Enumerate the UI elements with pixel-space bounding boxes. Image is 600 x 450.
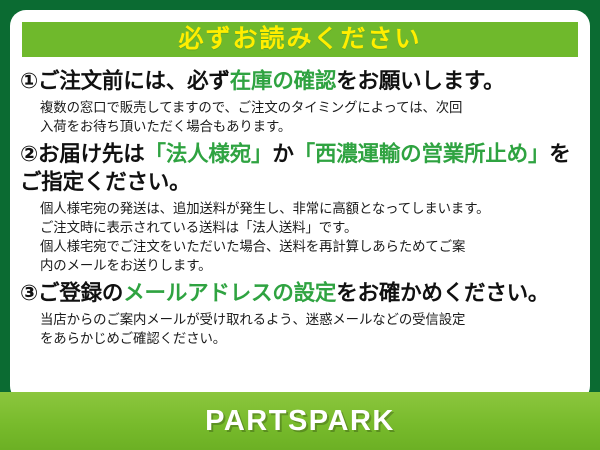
brand-logo-text: PARTSPARK xyxy=(205,407,395,436)
notice-item-2-body-line-4: 内のメールをお送りします。 xyxy=(40,256,582,275)
notice-item-1: ①ご注文前には、必ず在庫の確認をお願いします。 複数の窓口で販売してますので、ご… xyxy=(20,68,582,136)
notice-item-3-body-line-1: 当店からのご案内メールが受け取れるよう、迷惑メールなどの受信設定 xyxy=(40,310,582,329)
notice-item-1-body-line-2: 入荷をお待ち頂いただく場合もあります。 xyxy=(40,117,582,136)
notice-item-1-heading-part2: をお願いします。 xyxy=(336,69,504,93)
notice-item-3-heading-highlight: メールアドレスの設定 xyxy=(123,281,336,305)
notice-item-3-body-line-2: をあらかじめご確認ください。 xyxy=(40,329,582,348)
page-title: 必ずお読みください xyxy=(178,27,421,52)
notice-item-2-heading-mid: か xyxy=(272,142,293,166)
notice-item-list: ①ご注文前には、必ず在庫の確認をお願いします。 複数の窓口で販売してますので、ご… xyxy=(10,68,590,353)
notice-item-3-marker: ③ xyxy=(20,281,38,305)
notice-item-1-heading-highlight: 在庫の確認 xyxy=(230,69,337,93)
content-sheet: 必ずお読みください ①ご注文前には、必ず在庫の確認をお願いします。 複数の窓口で… xyxy=(10,10,590,402)
notice-item-2-body-line-2: ご注文時に表示されている送料は「法人送料」です。 xyxy=(40,218,582,237)
notice-item-3-heading-part1: ご登録の xyxy=(38,281,123,305)
notice-item-3-body: 当店からのご案内メールが受け取れるよう、迷惑メールなどの受信設定 をあらかじめご… xyxy=(20,310,582,348)
footer-bar: PARTSPARK xyxy=(0,392,600,450)
notice-item-2-body: 個人様宅宛の発送は、追加送料が発生し、非常に高額となってしまいます。 ご注文時に… xyxy=(20,199,582,275)
notice-card: 必ずお読みください ①ご注文前には、必ず在庫の確認をお願いします。 複数の窓口で… xyxy=(0,0,600,450)
notice-item-1-marker: ① xyxy=(20,69,38,93)
notice-item-3-heading: ③ご登録のメールアドレスの設定をお確かめください。 xyxy=(20,280,582,308)
notice-item-1-heading: ①ご注文前には、必ず在庫の確認をお願いします。 xyxy=(20,68,582,96)
notice-item-2-heading: ②お届け先は「法人様宛」か「西濃運輸の営業所止め」をご指定ください。 xyxy=(20,141,582,197)
notice-item-2-heading-highlight-2: 「西濃運輸の営業所止め」 xyxy=(294,142,550,166)
notice-item-2: ②お届け先は「法人様宛」か「西濃運輸の営業所止め」をご指定ください。 個人様宅宛… xyxy=(20,141,582,275)
notice-item-1-body: 複数の窓口で販売してますので、ご注文のタイミングによっては、次回 入荷をお待ち頂… xyxy=(20,98,582,136)
notice-item-2-body-line-3: 個人様宅宛でご注文をいただいた場合、送料を再計算しあらためてご案 xyxy=(40,237,582,256)
notice-item-2-heading-part1: お届け先は xyxy=(38,142,145,166)
notice-item-3: ③ご登録のメールアドレスの設定をお確かめください。 当店からのご案内メールが受け… xyxy=(20,280,582,348)
notice-item-3-heading-part2: をお確かめください。 xyxy=(336,281,549,305)
notice-item-2-heading-highlight: 「法人様宛」 xyxy=(145,142,273,166)
notice-item-1-heading-part1: ご注文前には、必ず xyxy=(38,69,230,93)
notice-item-1-body-line-1: 複数の窓口で販売してますので、ご注文のタイミングによっては、次回 xyxy=(40,98,582,117)
header-banner: 必ずお読みください xyxy=(22,22,578,57)
notice-item-2-marker: ② xyxy=(20,142,38,166)
notice-item-2-body-line-1: 個人様宅宛の発送は、追加送料が発生し、非常に高額となってしまいます。 xyxy=(40,199,582,218)
